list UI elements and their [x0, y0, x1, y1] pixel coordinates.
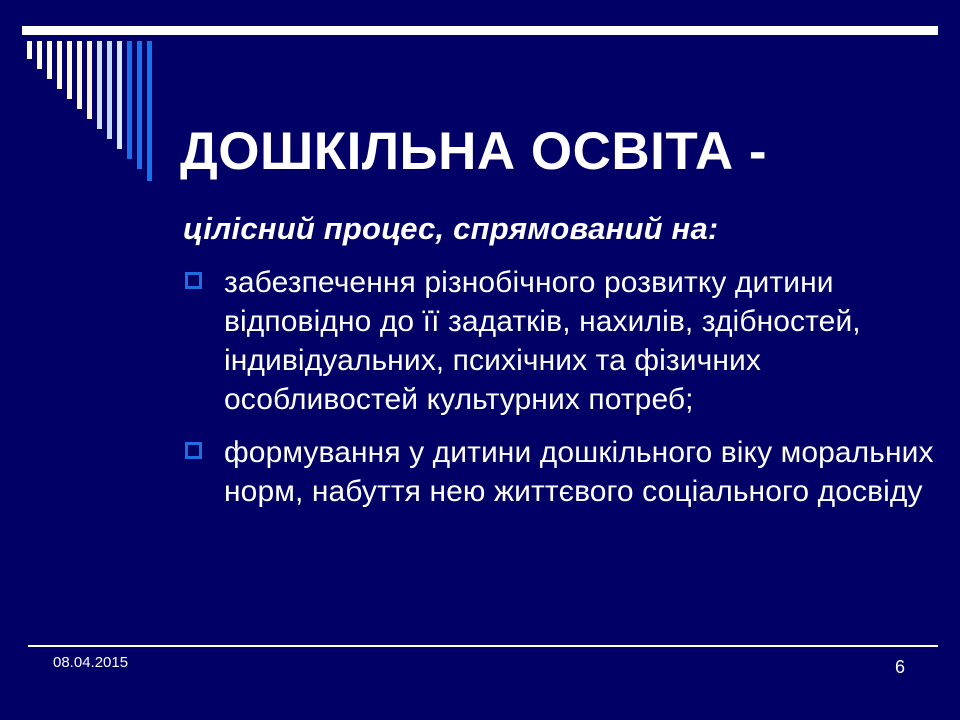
hollow-square-bullet-icon: [185, 442, 202, 459]
decorative-bar: [137, 41, 142, 169]
decorative-bar: [127, 41, 132, 159]
decorative-bar: [67, 41, 72, 99]
decorative-bar: [37, 41, 42, 69]
list-item-text: формування у дитини дошкільного віку мор…: [224, 433, 943, 511]
top-divider-rule: [22, 26, 938, 35]
decorative-bar: [57, 41, 62, 89]
decorative-bar: [107, 41, 112, 139]
decorative-bar: [47, 41, 52, 79]
decorative-bar: [77, 41, 82, 109]
decorative-bar: [27, 41, 32, 59]
footer-page-number: 6: [880, 658, 920, 676]
decorative-bar: [87, 41, 92, 119]
list-item: забезпечення різнобічного розвитку дитин…: [183, 263, 943, 419]
decorative-bar: [147, 41, 152, 181]
slide-subtitle: цілісний процес, спрямований на:: [183, 210, 943, 249]
decorative-bar-graphic: [27, 41, 167, 186]
hollow-square-bullet-icon: [185, 272, 202, 289]
bullet-list: забезпечення різнобічного розвитку дитин…: [183, 263, 943, 511]
decorative-bar: [117, 41, 122, 149]
decorative-bar: [97, 41, 102, 129]
footer-date: 08.04.2015: [53, 655, 128, 670]
list-item-text: забезпечення різнобічного розвитку дитин…: [224, 263, 943, 419]
slide-body: цілісний процес, спрямований на: забезпе…: [183, 210, 943, 511]
footer-divider-rule: [28, 645, 938, 647]
list-item: формування у дитини дошкільного віку мор…: [183, 433, 943, 511]
page-title: ДОШКІЛЬНА ОСВІТА -: [180, 124, 920, 180]
slide-canvas: ДОШКІЛЬНА ОСВІТА - цілісний процес, спря…: [0, 0, 960, 720]
